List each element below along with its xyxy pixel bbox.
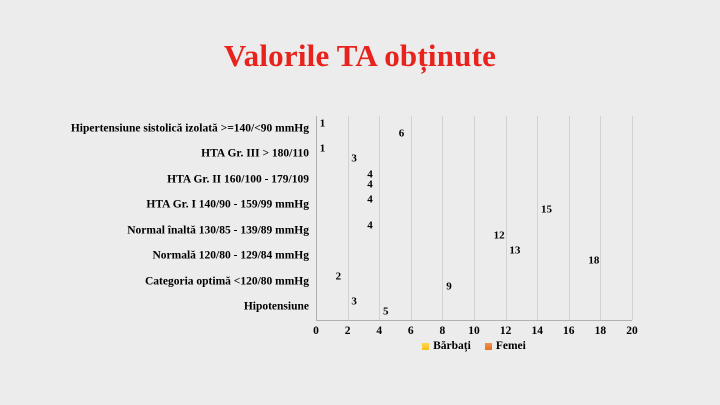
category-row: Normal înaltă 130/85 - 139/89 mmHg412 — [316, 218, 632, 244]
category-label: HTA Gr. III > 180/110 — [201, 149, 309, 161]
x-tick-label: 4 — [376, 326, 382, 338]
bar-femei[interactable]: 3 — [317, 155, 364, 163]
legend-swatch-icon — [485, 343, 492, 350]
category-label: Hipotensiune — [244, 302, 309, 314]
legend-item-barbati[interactable]: Bărbați — [422, 341, 471, 353]
plot-area: Hipertensiune sistolică izolată >=140/<9… — [316, 116, 632, 320]
x-tick-label: 12 — [500, 326, 512, 338]
bar-value-label: 4 — [367, 179, 373, 190]
bar-barbati[interactable]: 1 — [317, 145, 333, 153]
x-tick-label: 6 — [408, 326, 414, 338]
bar-value-label: 13 — [509, 246, 520, 257]
bar-value-label: 1 — [320, 118, 326, 129]
category-label: Normală 120/80 - 129/84 mmHg — [152, 251, 309, 263]
category-label: Normal înaltă 130/85 - 139/89 mmHg — [127, 225, 309, 237]
bar-femei[interactable]: 12 — [317, 232, 507, 240]
x-tick-label: 2 — [345, 326, 351, 338]
bar-value-label: 1 — [320, 144, 326, 155]
bar-femei[interactable]: 15 — [317, 206, 554, 214]
bar-value-label: 18 — [588, 256, 599, 267]
category-row: Hipotensiune35 — [316, 295, 632, 321]
bar-femei[interactable]: 9 — [317, 283, 459, 291]
x-axis-line — [316, 320, 632, 321]
category-row: Hipertensiune sistolică izolată >=140/<9… — [316, 116, 632, 142]
x-axis: 02468101214161820 — [316, 320, 632, 340]
category-label: HTA Gr. II 160/100 - 179/109 — [167, 174, 309, 186]
bar-barbati[interactable]: 2 — [317, 273, 349, 281]
bar-barbati[interactable]: 3 — [317, 298, 364, 306]
bar-value-label: 3 — [351, 297, 357, 308]
bar-femei[interactable]: 4 — [317, 181, 380, 189]
bar-value-label: 2 — [336, 271, 342, 282]
category-label: Categoria optimă <120/80 mmHg — [145, 276, 309, 288]
bar-femei[interactable]: 18 — [317, 257, 601, 265]
category-row: Normală 120/80 - 129/84 mmHg1318 — [316, 244, 632, 270]
category-row: HTA Gr. III > 180/11013 — [316, 142, 632, 168]
x-tick-label: 8 — [440, 326, 446, 338]
legend-label: Bărbați — [433, 341, 471, 353]
category-row: HTA Gr. I 140/90 - 159/99 mmHg415 — [316, 193, 632, 219]
bar-barbati[interactable]: 1 — [317, 120, 333, 128]
category-label: Hipertensiune sistolică izolată >=140/<9… — [71, 123, 309, 135]
bar-value-label: 9 — [446, 281, 452, 292]
legend-label: Femei — [496, 341, 526, 353]
bar-value-label: 4 — [367, 195, 373, 206]
bar-value-label: 4 — [367, 220, 373, 231]
x-tick-label: 14 — [531, 326, 543, 338]
x-tick-label: 20 — [626, 326, 638, 338]
bar-femei[interactable]: 5 — [317, 308, 396, 316]
bar-barbati[interactable]: 4 — [317, 222, 380, 230]
chart-legend: BărbațiFemei — [316, 341, 632, 353]
bar-barbati[interactable]: 13 — [317, 247, 522, 255]
bar-value-label: 3 — [351, 154, 357, 165]
x-tick-label: 18 — [595, 326, 607, 338]
gridline — [632, 116, 633, 320]
legend-item-femei[interactable]: Femei — [485, 341, 526, 353]
chart-title: Valorile TA obținute — [0, 38, 720, 74]
bar-femei[interactable]: 6 — [317, 130, 412, 138]
bar-value-label: 6 — [399, 128, 405, 139]
bar-value-label: 5 — [383, 307, 389, 318]
bar-barbati[interactable]: 4 — [317, 196, 380, 204]
x-tick-label: 16 — [563, 326, 575, 338]
category-row: Categoria optimă <120/80 mmHg29 — [316, 269, 632, 295]
bar-value-label: 15 — [541, 205, 552, 216]
x-tick-label: 10 — [468, 326, 480, 338]
x-tick-label: 0 — [313, 326, 319, 338]
category-row: HTA Gr. II 160/100 - 179/10944 — [316, 167, 632, 193]
bar-value-label: 12 — [494, 230, 505, 241]
legend-swatch-icon — [422, 343, 429, 350]
chart-container: Valorile TA obținute Hipertensiune sisto… — [0, 0, 720, 405]
category-label: HTA Gr. I 140/90 - 159/99 mmHg — [146, 200, 309, 212]
